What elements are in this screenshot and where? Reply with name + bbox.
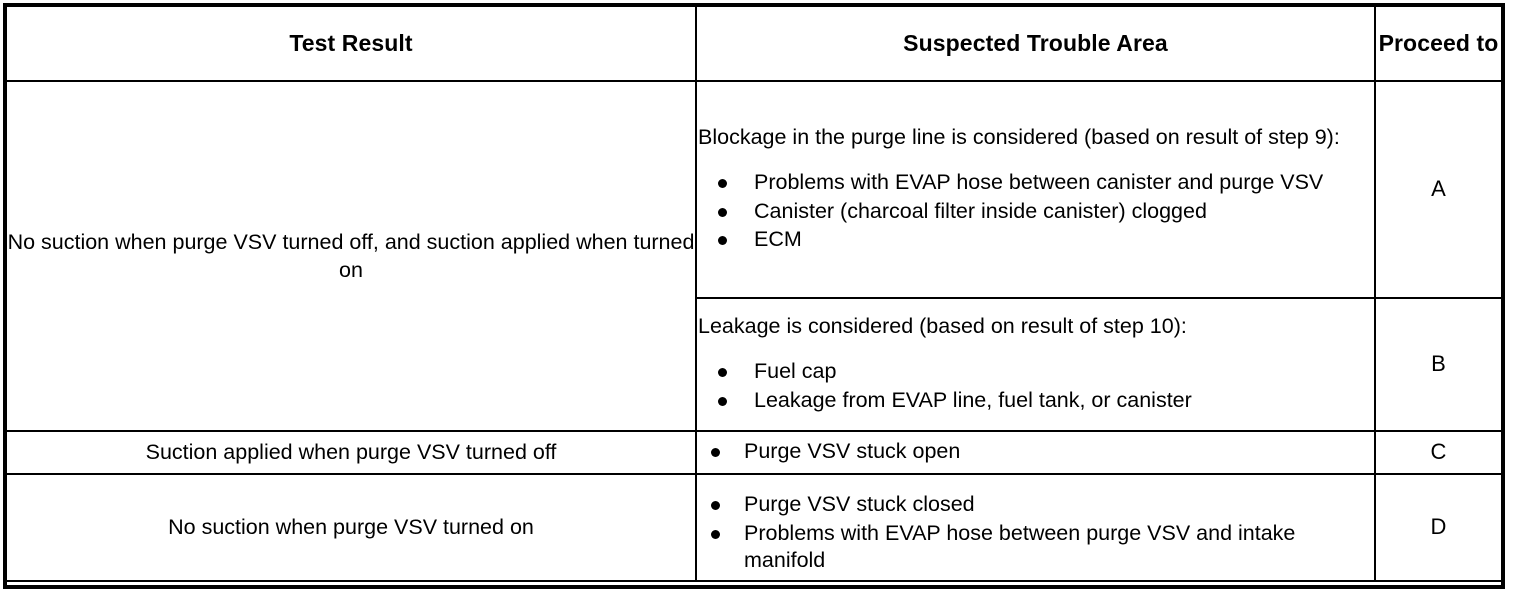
column-header-test-result: Test Result	[6, 6, 696, 81]
proceed-to-cell: C	[1375, 431, 1502, 474]
bullet-icon	[711, 448, 720, 457]
list-item-label: Problems with EVAP hose between purge VS…	[744, 521, 1295, 573]
suspected-trouble-area-cell: Blockage in the purge line is considered…	[696, 81, 1375, 298]
list-item: ECM	[697, 226, 1374, 254]
test-result-cell: No suction when purge VSV turned on	[6, 474, 696, 581]
proceed-to-cell: B	[1375, 298, 1502, 431]
bullet-icon	[718, 397, 727, 406]
table-row: No suction when purge VSV turned off, an…	[6, 81, 1502, 298]
bullet-icon	[718, 368, 727, 377]
list-item: Problems with EVAP hose between purge VS…	[697, 520, 1374, 576]
trouble-bullet-list: Purge VSV stuck closed Problems with EVA…	[697, 491, 1374, 576]
suspected-trouble-area-cell: Purge VSV stuck open	[696, 431, 1375, 474]
list-item: Purge VSV stuck closed	[697, 491, 1374, 519]
trouble-bullet-list: Purge VSV stuck open	[697, 438, 1374, 466]
column-header-suspected-trouble-area: Suspected Trouble Area	[696, 6, 1375, 81]
table-header-row: Test Result Suspected Trouble Area Proce…	[6, 6, 1502, 81]
list-item: Purge VSV stuck open	[697, 438, 1374, 466]
bullet-icon	[718, 208, 727, 217]
list-item-label: Fuel cap	[754, 359, 836, 383]
list-item: Canister (charcoal filter inside caniste…	[697, 198, 1374, 226]
bullet-icon	[711, 530, 720, 539]
list-item-label: ECM	[754, 227, 802, 251]
suspected-trouble-area-cell: Leakage is considered (based on result o…	[696, 298, 1375, 431]
list-item: Fuel cap	[697, 358, 1374, 386]
bullet-icon	[718, 179, 727, 188]
trouble-bullet-list: Problems with EVAP hose between canister…	[697, 169, 1374, 255]
list-item-label: Purge VSV stuck closed	[744, 492, 975, 516]
table-row: Suction applied when purge VSV turned of…	[6, 431, 1502, 474]
trouble-lead-text: Leakage is considered (based on result o…	[697, 313, 1374, 341]
test-result-cell: No suction when purge VSV turned off, an…	[6, 81, 696, 431]
bullet-icon	[711, 501, 720, 510]
suspected-trouble-area-cell: Purge VSV stuck closed Problems with EVA…	[696, 474, 1375, 581]
test-result-cell: Suction applied when purge VSV turned of…	[6, 431, 696, 474]
bullet-icon	[718, 236, 727, 245]
list-item-label: Purge VSV stuck open	[744, 439, 960, 463]
list-item: Problems with EVAP hose between canister…	[697, 169, 1374, 197]
column-header-proceed-to: Proceed to	[1375, 6, 1502, 81]
list-item: Leakage from EVAP line, fuel tank, or ca…	[697, 387, 1374, 415]
proceed-to-cell: A	[1375, 81, 1502, 298]
table-row: No suction when purge VSV turned on Purg…	[6, 474, 1502, 581]
list-item-label: Problems with EVAP hose between canister…	[754, 170, 1323, 194]
diagnostic-table: Test Result Suspected Trouble Area Proce…	[5, 5, 1503, 582]
trouble-lead-text: Blockage in the purge line is considered…	[697, 124, 1374, 152]
diagnostic-table-sheet: Test Result Suspected Trouble Area Proce…	[0, 0, 1520, 586]
trouble-bullet-list: Fuel cap Leakage from EVAP line, fuel ta…	[697, 358, 1374, 415]
list-item-label: Canister (charcoal filter inside caniste…	[754, 199, 1207, 223]
proceed-to-cell: D	[1375, 474, 1502, 581]
list-item-label: Leakage from EVAP line, fuel tank, or ca…	[754, 388, 1192, 412]
